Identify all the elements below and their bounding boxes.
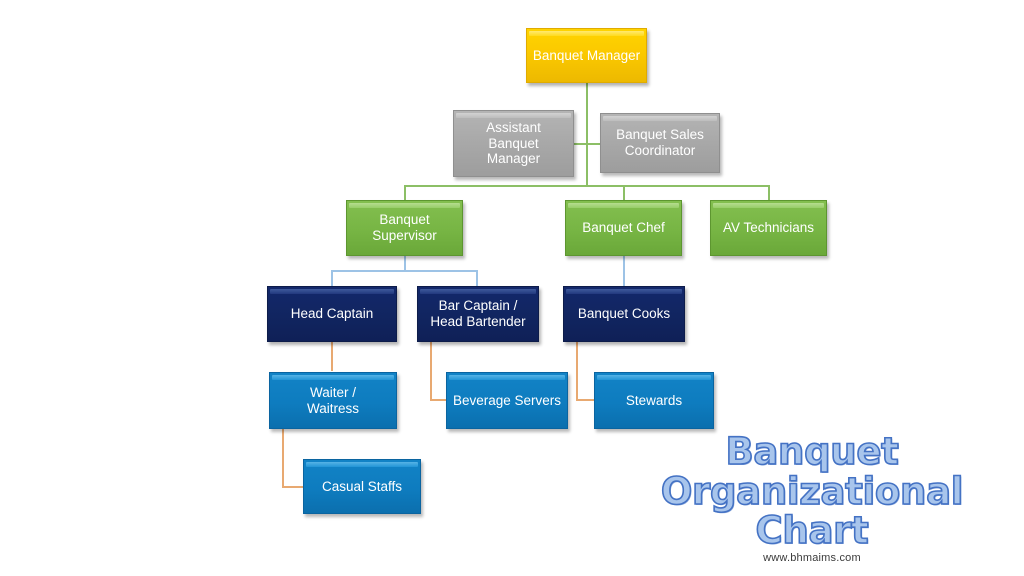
org-chart-canvas: Banquet Manager Assistant Banquet Manage… <box>0 0 1024 576</box>
node-assistant-banquet-manager-label: Assistant Banquet Manager <box>454 120 573 168</box>
node-bar-captain-head-bartender[interactable]: Bar Captain / Head Bartender <box>417 286 539 342</box>
node-bar-captain-head-bartender-label: Bar Captain / Head Bartender <box>418 298 538 330</box>
connector-manager-trunk <box>586 83 588 186</box>
chart-website: www.bhmaims.com <box>612 552 1012 564</box>
connector-green-bus <box>404 185 770 187</box>
node-waiter-waitress[interactable]: Waiter / Waitress <box>269 372 397 429</box>
connector-bus-drop-chef <box>623 185 625 201</box>
title-block: Banquet Organizational Chart www.bhmaims… <box>612 432 1012 564</box>
node-banquet-chef[interactable]: Banquet Chef <box>565 200 682 256</box>
node-banquet-cooks-label: Banquet Cooks <box>564 306 684 322</box>
node-banquet-manager[interactable]: Banquet Manager <box>526 28 647 83</box>
connector-bar-captain-to-beverage-horizontal <box>430 399 447 401</box>
connector-head-captain-to-waiter <box>331 341 333 371</box>
node-beverage-servers-label: Beverage Servers <box>447 393 567 409</box>
connector-bar-captain-to-beverage-vertical <box>430 341 432 400</box>
node-beverage-servers[interactable]: Beverage Servers <box>446 372 568 429</box>
connector-supervisor-drop <box>404 255 406 271</box>
node-banquet-supervisor[interactable]: Banquet Supervisor <box>346 200 463 256</box>
node-waiter-waitress-label: Waiter / Waitress <box>270 385 396 417</box>
connector-cooks-to-stewards-vertical <box>576 341 578 400</box>
node-head-captain[interactable]: Head Captain <box>267 286 397 342</box>
node-banquet-chef-label: Banquet Chef <box>566 220 681 236</box>
connector-cooks-to-stewards-horizontal <box>576 399 595 401</box>
chart-title: Banquet Organizational Chart <box>612 432 1012 550</box>
node-banquet-sales-coordinator-label: Banquet Sales Coordinator <box>601 127 719 159</box>
node-banquet-sales-coordinator[interactable]: Banquet Sales Coordinator <box>600 113 720 173</box>
node-casual-staffs-label: Casual Staffs <box>304 479 420 495</box>
node-banquet-cooks[interactable]: Banquet Cooks <box>563 286 685 342</box>
node-assistant-banquet-manager[interactable]: Assistant Banquet Manager <box>453 110 574 177</box>
node-av-technicians-label: AV Technicians <box>711 220 826 236</box>
connector-manager-to-sales-coordinator <box>586 143 600 145</box>
node-head-captain-label: Head Captain <box>268 306 396 322</box>
node-av-technicians[interactable]: AV Technicians <box>710 200 827 256</box>
connector-waiter-to-casual-horizontal <box>282 486 304 488</box>
connector-supervisor-bus <box>331 270 478 272</box>
node-stewards-label: Stewards <box>595 393 713 409</box>
connector-waiter-to-casual-vertical <box>282 428 284 487</box>
node-casual-staffs[interactable]: Casual Staffs <box>303 459 421 514</box>
connector-chef-to-cooks <box>623 255 625 288</box>
node-banquet-manager-label: Banquet Manager <box>527 48 646 64</box>
node-banquet-supervisor-label: Banquet Supervisor <box>347 212 462 244</box>
node-stewards[interactable]: Stewards <box>594 372 714 429</box>
connector-bus-drop-supervisor <box>404 185 406 201</box>
connector-bus-drop-av <box>768 185 770 201</box>
